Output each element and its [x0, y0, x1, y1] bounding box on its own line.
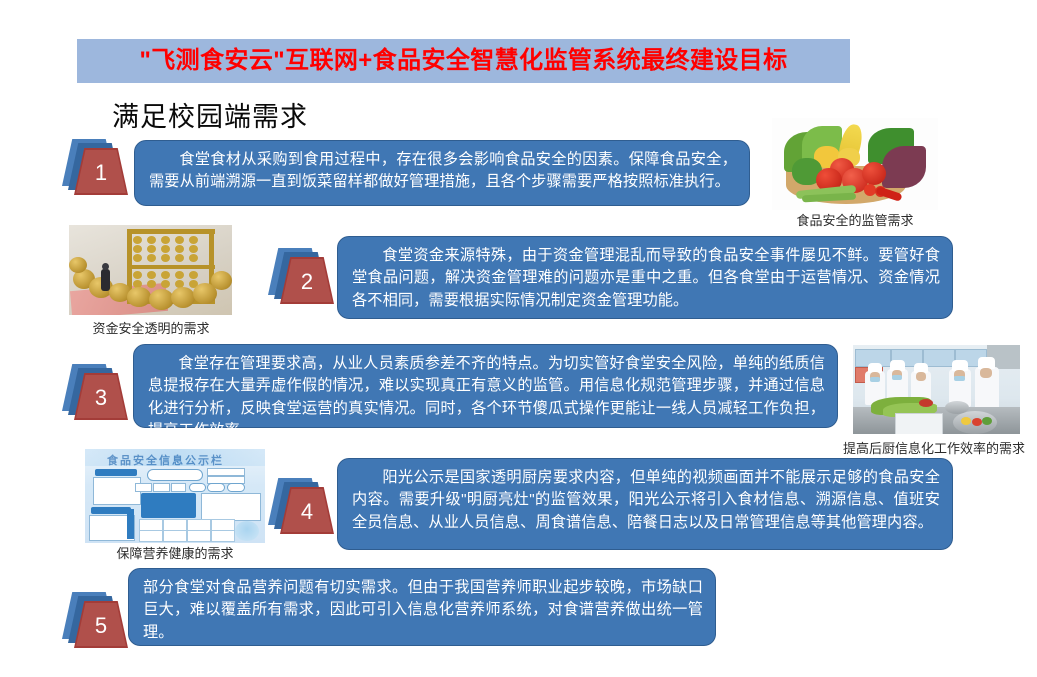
tag-pill — [207, 483, 225, 492]
abacus-coins-photo — [69, 225, 232, 315]
grid-cell — [163, 530, 187, 542]
left-table-header — [91, 507, 131, 514]
abacus-bead — [133, 271, 142, 279]
abacus-bead — [175, 236, 184, 244]
vegetables-illustration — [772, 118, 938, 210]
slide-title-banner: "飞测食安云"互联网+食品安全智慧化监管系统最终建设目标 — [77, 39, 850, 83]
callout-box-4: 阳光公示是国家透明厨房要求内容，但单纯的视频画面并不能展示足够的食品安全内容。需… — [337, 458, 953, 550]
tag-cell — [135, 483, 152, 492]
board-header-strip — [85, 449, 265, 466]
abacus-bead — [133, 236, 142, 244]
tomato-4 — [862, 162, 886, 185]
step-badge-4: 4 — [268, 478, 334, 534]
badge-number-1: 1 — [95, 159, 107, 184]
gold-coin — [69, 257, 87, 273]
kitchen-staff-caption: 提高后厨信息化工作效率的需求 — [830, 438, 1037, 457]
left-table-side-bar — [127, 509, 134, 539]
tag-pill — [227, 483, 245, 492]
callout-text-5: 部分食堂对食品营养问题有切实需求。但由于我国营养师职业起步较晚，市场缺口巨大，难… — [143, 577, 703, 644]
callout-text-2: 食堂资金来源特殊，由于资金管理混乱而导致的食品安全事件屡见不鲜。要管好食堂食品问… — [352, 245, 940, 312]
abacus-bead — [175, 245, 184, 253]
left-panel-body — [93, 477, 141, 505]
section-subtitle: 满足校园端需求 — [112, 95, 308, 134]
step-badge-2: 2 — [268, 248, 334, 304]
callout-text-4: 阳光公示是国家透明厨房要求内容，但单纯的视频画面并不能展示足够的食品安全内容。需… — [352, 467, 940, 534]
abacus-bead — [161, 280, 170, 288]
badge-number-5: 5 — [95, 612, 107, 637]
badge-number-2: 2 — [301, 268, 313, 293]
gold-coin — [171, 287, 195, 308]
white-basket — [895, 413, 943, 434]
callout-box-1: 食堂食材从采购到食用过程中，存在很多会影响食品安全的因素。保障食品安全，需要从前… — [134, 140, 750, 206]
tag-cell — [153, 483, 170, 492]
abacus-illustration — [69, 225, 232, 315]
tag-pill — [189, 483, 206, 492]
fresh-vegetables-photo — [772, 118, 938, 210]
pepper-in-bowl-green — [982, 417, 992, 425]
gold-coin — [127, 287, 151, 307]
callout-text-3: 食堂存在管理要求高，从业人员素质参差不齐的特点。为切实管好食堂安全风险，单纯的纸… — [148, 353, 825, 442]
bulletin-board-caption: 保障营养健康的需求 — [85, 543, 265, 562]
badge-number-3: 3 — [95, 384, 107, 409]
abacus-bead — [133, 245, 142, 253]
chef-mask — [954, 376, 965, 381]
chef-mask — [870, 377, 880, 382]
red-leaf-lettuce — [882, 146, 926, 188]
abacus-bead — [147, 271, 156, 279]
abacus-bead — [147, 280, 156, 288]
badge-number-4: 4 — [301, 498, 313, 523]
abacus-bead — [161, 236, 170, 244]
miniature-figure-body — [101, 269, 110, 291]
kitchen-illustration — [853, 345, 1020, 434]
miniature-figure-head — [102, 263, 109, 270]
abacus-bead — [161, 254, 170, 262]
pepper-in-bowl-red — [972, 418, 982, 426]
bulletin-board-photo: 食品安全信息公示栏 — [85, 449, 265, 543]
abacus-bead — [189, 271, 198, 279]
abacus-bead — [147, 245, 156, 253]
page-title: "飞测食安云"互联网+食品安全智慧化监管系统最终建设目标 — [140, 49, 788, 73]
pepper-in-bowl-yellow — [961, 417, 971, 425]
abacus-coins-caption: 资金安全透明的需求 — [63, 318, 239, 337]
steel-bowl-small — [945, 401, 969, 414]
abacus-bead — [175, 254, 184, 262]
chef-mask — [892, 375, 902, 380]
grid-cell — [139, 530, 163, 542]
bulletin-board-illustration: 食品安全信息公示栏 — [85, 449, 265, 543]
abacus-bead — [189, 245, 198, 253]
left-panel-header — [95, 469, 137, 476]
wall-board-3 — [923, 349, 955, 367]
callout-text-1: 食堂食材从采购到食用过程中，存在很多会影响食品安全的因素。保障食品安全，需要从前… — [149, 149, 737, 194]
callout-box-5: 部分食堂对食品营养问题有切实需求。但由于我国营养师职业起步较晚，市场缺口巨大，难… — [128, 568, 716, 646]
grid-cell — [187, 530, 211, 542]
decorative-tree — [235, 521, 259, 541]
fresh-vegetables-caption: 食品安全的监管需求 — [772, 210, 938, 229]
step-badge-3: 3 — [62, 364, 128, 420]
abacus-bead — [189, 236, 198, 244]
tag-cell — [171, 483, 186, 492]
callout-box-3: 食堂存在管理要求高，从业人员素质参差不齐的特点。为切实管好食堂安全风险，单纯的纸… — [133, 344, 838, 428]
abacus-bead — [147, 254, 156, 262]
abacus-bead — [133, 254, 142, 262]
kitchen-staff-photo — [853, 345, 1020, 434]
abacus-frame-top — [127, 229, 215, 234]
grid-cell — [211, 530, 235, 542]
abacus-bead — [161, 245, 170, 253]
chef-face — [916, 372, 926, 381]
abacus-bead — [147, 236, 156, 244]
step-badge-5: 5 — [62, 592, 128, 648]
center-org-pill — [147, 469, 203, 481]
callout-box-2: 食堂资金来源特殊，由于资金管理混乱而导致的食品安全事件屡见不鲜。要管好食堂食品问… — [337, 236, 953, 319]
step-badge-1: 1 — [62, 139, 128, 195]
abacus-crossbar — [127, 265, 215, 269]
abacus-bead — [189, 254, 198, 262]
gold-coin — [211, 271, 232, 290]
abacus-bead — [175, 271, 184, 279]
top-right-field-1 — [207, 468, 245, 476]
abacus-bead — [161, 271, 170, 279]
mid-blue-panel — [141, 493, 196, 518]
red-vegetable — [919, 399, 933, 407]
right-table — [201, 493, 261, 521]
chef-face — [980, 368, 992, 378]
